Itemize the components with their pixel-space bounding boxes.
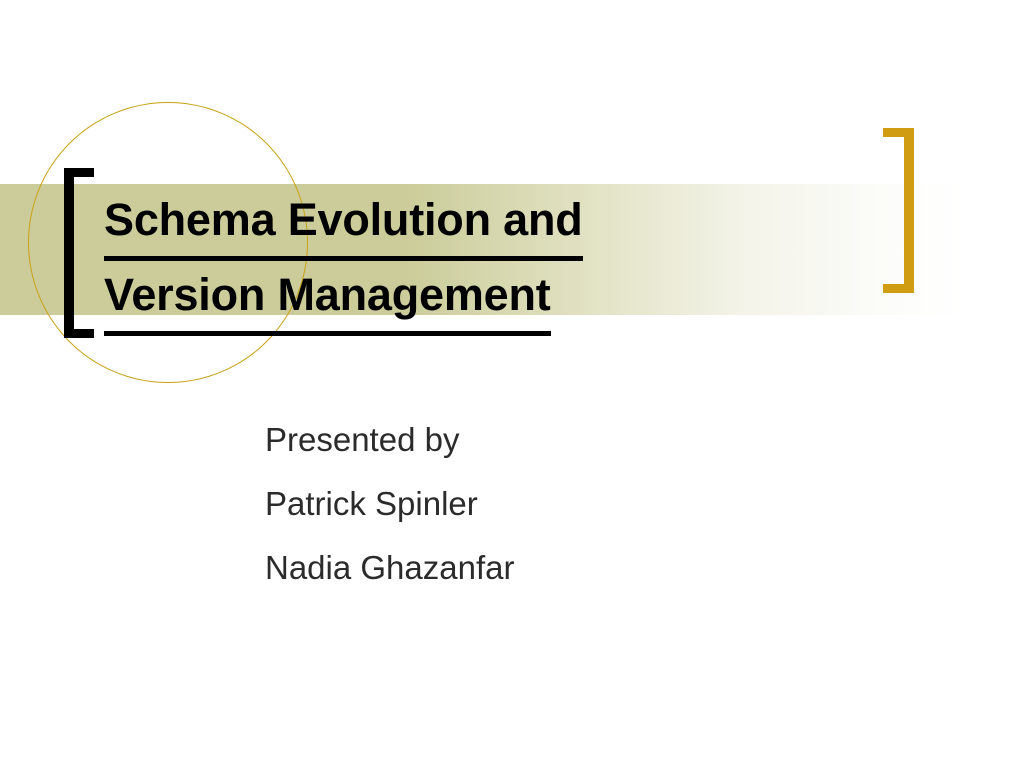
slide-title-line-2-text: Version Management bbox=[104, 261, 551, 336]
left-bracket-bottom-arm bbox=[64, 329, 94, 338]
slide-body-list: Presented by Patrick Spinler Nadia Ghaza… bbox=[265, 408, 885, 600]
slide-title-line-1: Schema Evolution and bbox=[104, 186, 884, 261]
slide-body-line: Patrick Spinler bbox=[265, 472, 885, 536]
right-bracket-decoration bbox=[883, 128, 914, 293]
right-bracket-bottom-arm bbox=[883, 284, 914, 293]
slide-title-line-1-text: Schema Evolution and bbox=[104, 186, 583, 261]
slide-body-line: Presented by bbox=[265, 408, 885, 472]
slide-body-line: Nadia Ghazanfar bbox=[265, 536, 885, 600]
left-bracket-stem bbox=[64, 168, 74, 338]
left-bracket-decoration bbox=[64, 168, 94, 338]
right-bracket-stem bbox=[904, 128, 914, 293]
slide-title: Schema Evolution and Version Management bbox=[104, 186, 884, 336]
slide-title-line-2: Version Management bbox=[104, 261, 884, 336]
presentation-slide: Schema Evolution and Version Management … bbox=[0, 0, 1024, 768]
